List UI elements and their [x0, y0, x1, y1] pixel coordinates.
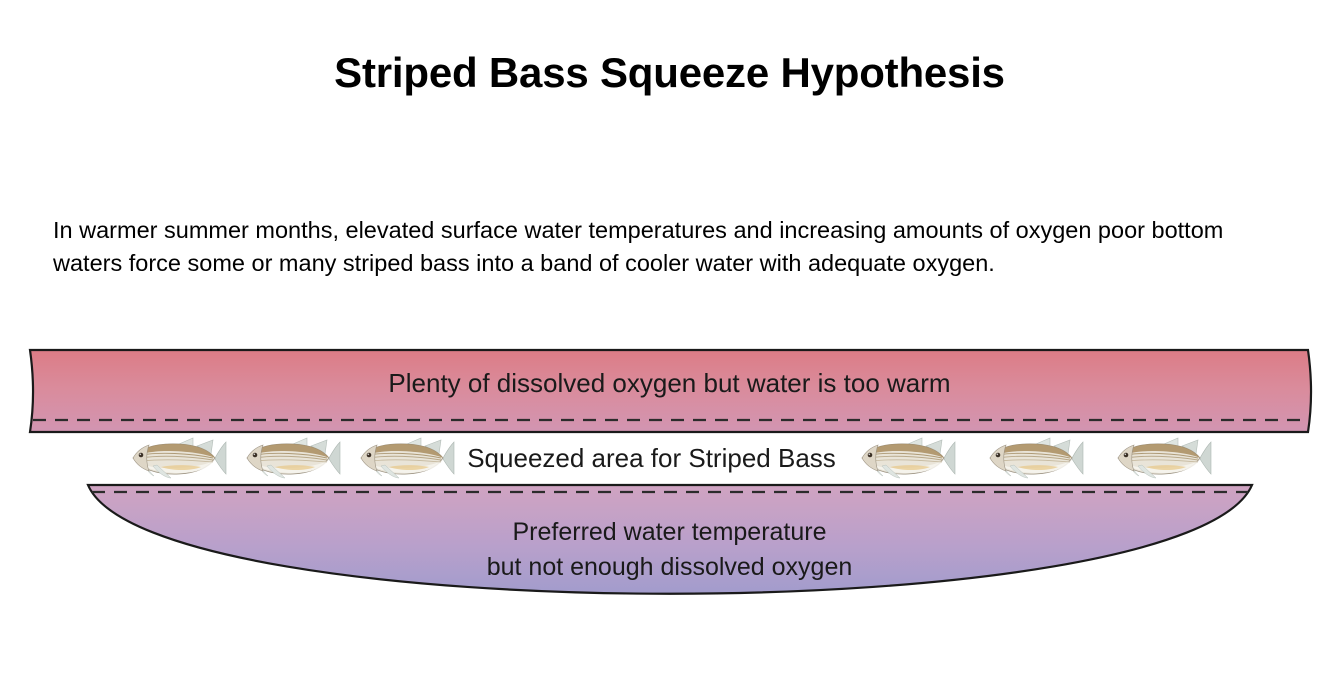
squeeze-layer-label: Squeezed area for Striped Bass	[461, 443, 842, 474]
page-title: Striped Bass Squeeze Hypothesis	[0, 50, 1339, 96]
striped-bass-fish-icon	[1112, 434, 1212, 482]
striped-bass-squeeze-diagram: Plenty of dissolved oxygen but water is …	[0, 330, 1339, 660]
striped-bass-fish-icon	[241, 434, 341, 482]
slide-canvas: Striped Bass Squeeze Hypothesis In warme…	[0, 0, 1339, 692]
cold-layer-shape	[88, 485, 1252, 594]
fish-group-right	[856, 434, 1212, 482]
striped-bass-fish-icon	[355, 434, 455, 482]
intro-paragraph: In warmer summer months, elevated surfac…	[53, 214, 1293, 281]
squeeze-layer-row: Squeezed area for Striped Bass	[0, 431, 1339, 485]
fish-group-left	[127, 434, 455, 482]
striped-bass-fish-icon	[856, 434, 956, 482]
striped-bass-fish-icon	[984, 434, 1084, 482]
diagram-shapes	[0, 330, 1339, 660]
striped-bass-fish-icon	[127, 434, 227, 482]
